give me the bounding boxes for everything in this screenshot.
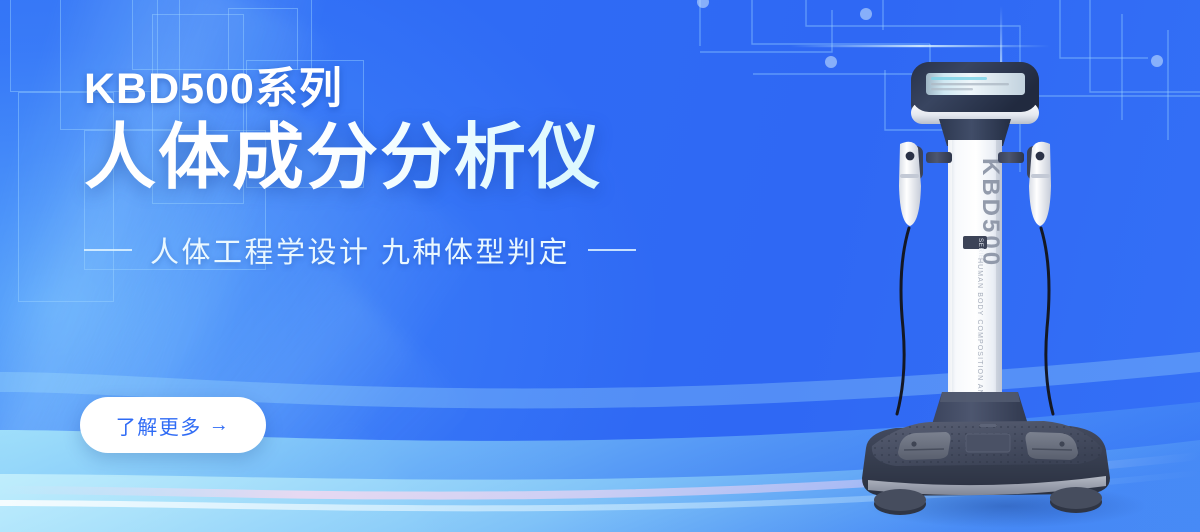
learn-more-button[interactable]: 了解更多 →: [80, 397, 266, 453]
product-image-body-composition-analyzer: KBD500 SERIES HUMAN BODY COMPOSITION ANA…: [838, 40, 1168, 532]
hero-banner: KBD500系列 人体成分分析仪 人体工程学设计 九种体型判定 了解更多 →: [0, 0, 1200, 532]
dash-right-decoration: [588, 249, 636, 251]
dash-left-decoration: [84, 249, 132, 251]
subtitle-row: 人体工程学设计 九种体型判定: [84, 229, 724, 271]
product-series-label: KBD500系列: [84, 66, 724, 112]
page-title: 人体成分分析仪: [84, 118, 724, 199]
subtitle: 人体工程学设计 九种体型判定: [150, 229, 570, 271]
arrow-right-icon: →: [209, 415, 231, 435]
hero-copy: KBD500系列 人体成分分析仪 人体工程学设计 九种体型判定: [84, 66, 724, 271]
learn-more-label: 了解更多: [116, 411, 202, 440]
device-hand-electrode-left: [897, 142, 952, 414]
device-hand-electrode-right: [998, 142, 1053, 414]
device-display-head: [911, 62, 1039, 124]
